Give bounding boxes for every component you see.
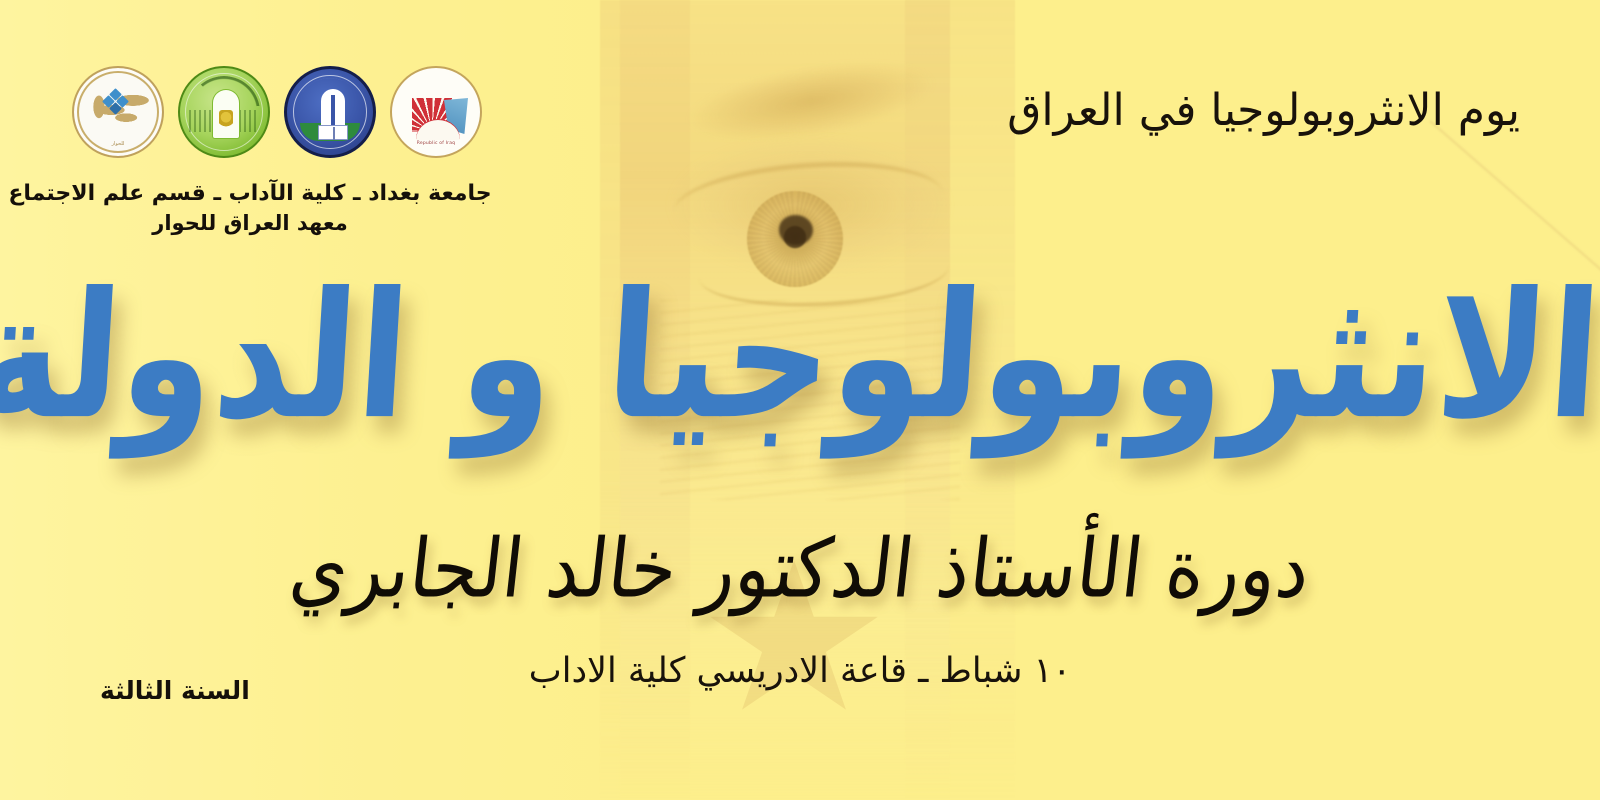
university-of-baghdad-logo-icon xyxy=(284,66,376,158)
logo-row: للحوار Republic of Iraq xyxy=(72,66,482,158)
presenter-line: دورة الأستاذ الدكتور خالد الجابري xyxy=(0,528,1600,609)
mihrab-arch-icon xyxy=(213,90,239,138)
college-green-seal-logo-icon xyxy=(178,66,270,158)
ministry-of-higher-education-logo-icon: Republic of Iraq xyxy=(390,66,482,158)
logo-caption-dialogue: للحوار xyxy=(74,141,162,147)
year-badge: السنة الثالثة xyxy=(100,676,250,705)
pupil-shape xyxy=(779,215,813,245)
page-title: الانثروبولوجيا و الدولة xyxy=(0,270,1600,444)
affiliation-line-1: جامعة بغداد ـ كلية الآداب ـ قسم علم الاج… xyxy=(0,178,500,209)
diamond-cluster-icon xyxy=(104,90,128,114)
iraq-institute-for-dialogue-logo-icon: للحوار xyxy=(72,66,164,158)
open-book-icon xyxy=(318,125,348,140)
affiliation-line-2: معهد العراق للحوار xyxy=(0,209,500,239)
logo-caption-ministry: Republic of Iraq xyxy=(392,141,480,146)
poster-canvas: للحوار Republic of Iraq جامعة بغداد ـ كل… xyxy=(0,0,1600,800)
event-day-label: يوم الانثروبولوجيا في العراق xyxy=(1007,88,1520,134)
affiliation-block: جامعة بغداد ـ كلية الآداب ـ قسم علم الاج… xyxy=(0,178,500,239)
